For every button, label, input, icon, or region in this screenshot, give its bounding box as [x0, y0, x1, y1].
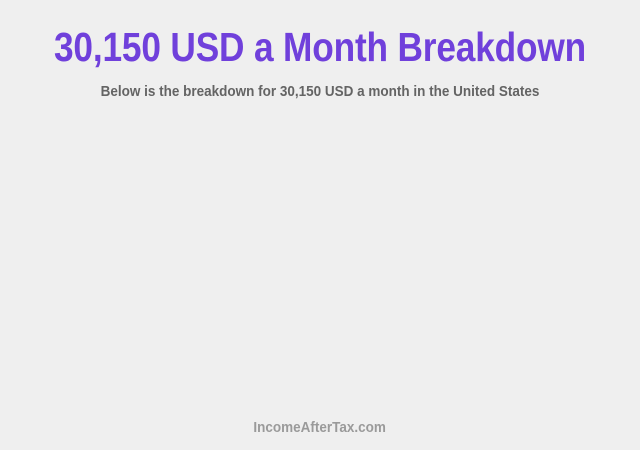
page-root: 30,150 USD a Month Breakdown Below is th… — [0, 0, 640, 450]
page-title: 30,150 USD a Month Breakdown — [45, 25, 595, 69]
chart-region — [0, 118, 640, 408]
footer-site-name: IncomeAfterTax.com — [254, 419, 387, 437]
site-footer: IncomeAfterTax.com — [0, 419, 640, 437]
page-subtitle: Below is the breakdown for 30,150 USD a … — [32, 83, 608, 101]
chart-canvas — [0, 118, 640, 408]
